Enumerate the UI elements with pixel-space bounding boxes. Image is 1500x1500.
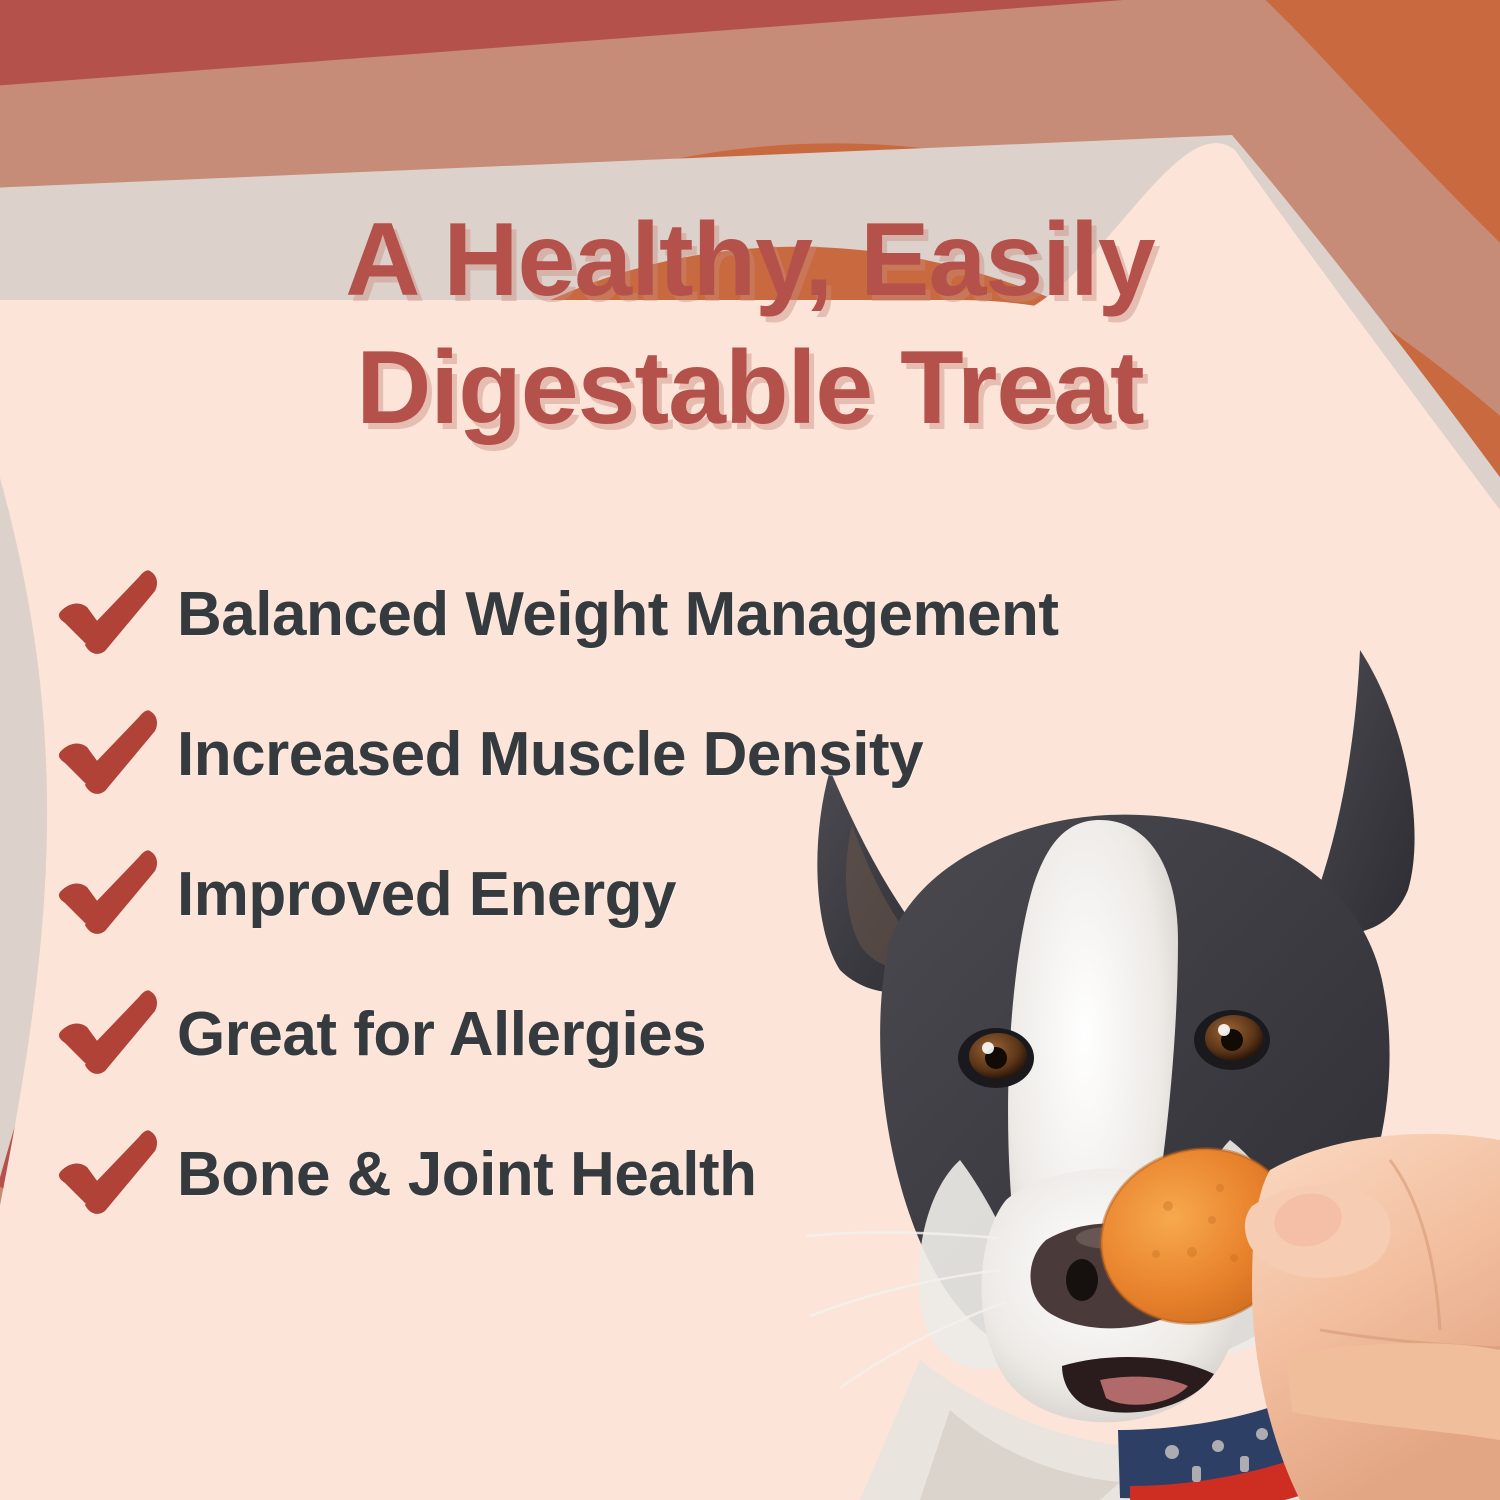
check-mark-icon [55,1127,163,1223]
list-item-label: Balanced Weight Management [177,584,1059,646]
list-item-label: Bone & Joint Health [177,1144,757,1206]
check-mark-icon [55,987,163,1083]
list-item-label: Increased Muscle Density [177,724,923,786]
dog-nostril-left [1066,1259,1098,1301]
list-item-label: Improved Energy [177,864,676,926]
list-item-label: Great for Allergies [177,1004,706,1066]
list-item: Great for Allergies [55,965,1385,1105]
product-infographic: A Healthy, Easily Digestable Treat [0,0,1500,1500]
check-mark-icon [55,567,163,663]
list-item: Improved Energy [55,825,1385,965]
list-item: Increased Muscle Density [55,685,1385,825]
check-mark-icon [55,847,163,943]
list-item: Bone & Joint Health [55,1105,1385,1245]
check-mark-icon [55,707,163,803]
benefits-list: Balanced Weight Management Increased Mus… [55,545,1385,1245]
list-item: Balanced Weight Management [55,545,1385,685]
